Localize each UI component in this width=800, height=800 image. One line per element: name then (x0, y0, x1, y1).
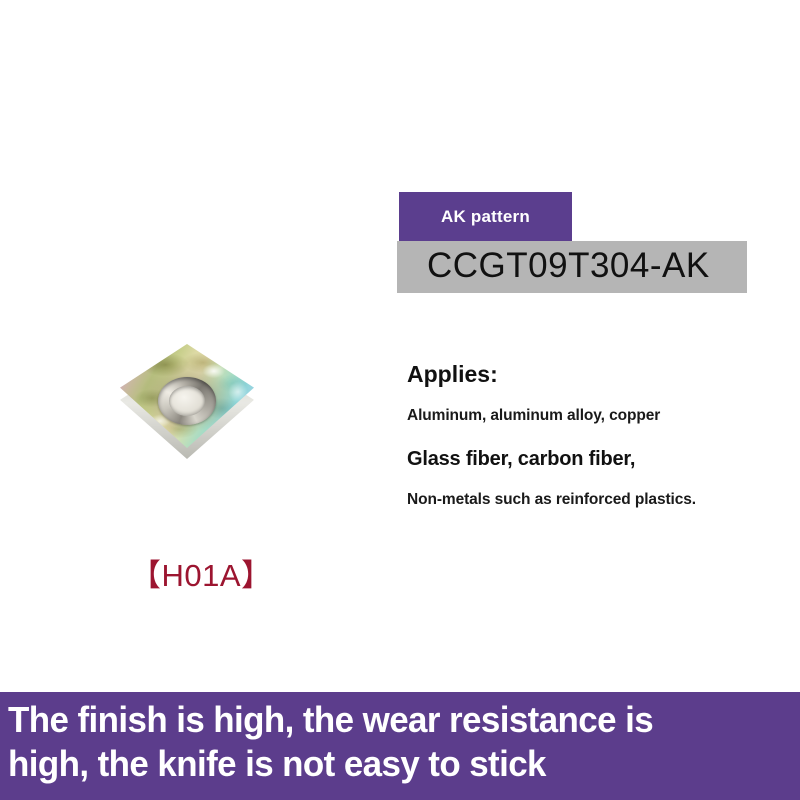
product-code-bar: CCGT09T304-AK (397, 241, 747, 293)
applies-heading: Applies: (407, 362, 767, 387)
carbide-insert-rhombic-icon (112, 330, 262, 460)
grade-label: 【H01A】 (130, 550, 273, 595)
banner-text-line-1: The finish is high, the wear resistance … (8, 698, 767, 742)
product-code-text: CCGT09T304-AK (427, 246, 710, 286)
bottom-feature-banner: The finish is high, the wear resistance … (0, 692, 800, 800)
applies-material-line-3: Non-metals such as reinforced plastics. (407, 491, 767, 510)
applies-material-line-1: Aluminum, aluminum alloy, copper (407, 407, 767, 426)
ak-pattern-badge-label: AK pattern (441, 207, 530, 227)
insert-hole-bore (169, 386, 205, 416)
ak-pattern-badge: AK pattern (399, 192, 572, 242)
product-marketing-image: AK pattern CCGT09T304-AK Applies: Alumin… (0, 0, 800, 800)
applies-material-line-2: Glass fiber, carbon fiber, (407, 448, 767, 471)
insert-countersunk-hole (158, 377, 216, 425)
banner-text-line-2: high, the knife is not easy to stick (8, 742, 767, 786)
applies-text-block: Applies: Aluminum, aluminum alloy, coppe… (407, 362, 767, 509)
